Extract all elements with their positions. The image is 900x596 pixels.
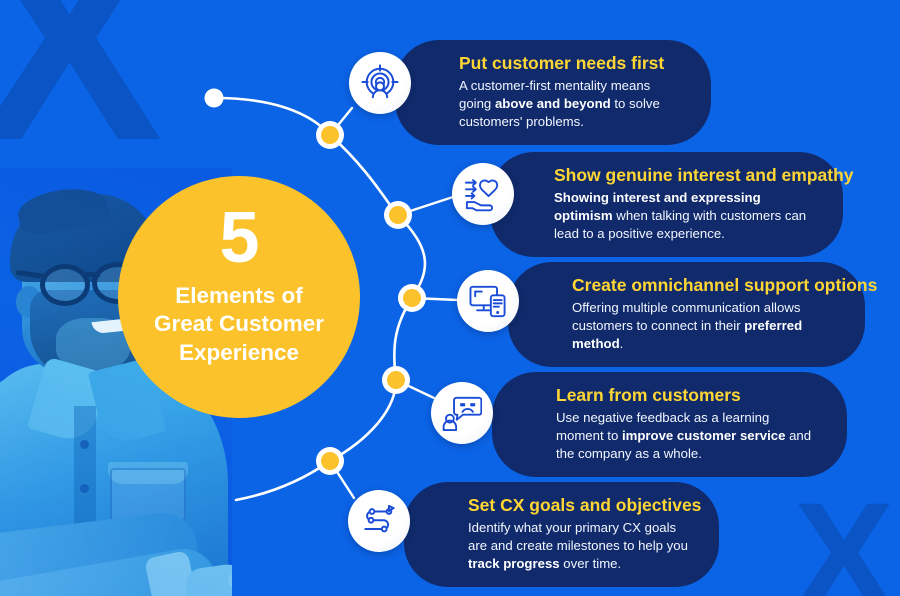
- element-count: 5: [118, 176, 360, 274]
- element-panel-4[interactable]: Learn from customers Use negative feedba…: [492, 372, 847, 477]
- element-body-4: Use negative feedback as a learning mome…: [556, 409, 817, 464]
- center-hero-circle: 5 Elements of Great Customer Experience: [118, 176, 360, 418]
- element-panel-3[interactable]: Create omnichannel support options Offer…: [508, 262, 865, 367]
- element-title-3: Create omnichannel support options: [572, 275, 835, 296]
- element-panel-5[interactable]: Set CX goals and objectives Identify wha…: [404, 482, 719, 587]
- target-customer-icon[interactable]: [349, 52, 411, 114]
- element-title-4: Learn from customers: [556, 385, 817, 406]
- element-body-5: Identify what your primary CX goals are …: [468, 519, 689, 574]
- element-body-2: Showing interest and expressing optimism…: [554, 189, 813, 244]
- element-body-1: A customer-first mentality means going a…: [459, 77, 681, 132]
- element-panel-1[interactable]: Put customer needs first A customer-firs…: [395, 40, 711, 145]
- element-title-1: Put customer needs first: [459, 53, 681, 74]
- element-panel-2[interactable]: Show genuine interest and empathy Showin…: [490, 152, 843, 257]
- element-body-3: Offering multiple communication allows c…: [572, 299, 835, 354]
- sad-feedback-bubble-icon[interactable]: [431, 382, 493, 444]
- infographic-canvas: X X: [0, 0, 900, 596]
- monitor-and-phone-icon[interactable]: [457, 270, 519, 332]
- element-title-2: Show genuine interest and empathy: [554, 165, 813, 186]
- milestone-path-icon[interactable]: [348, 490, 410, 552]
- hand-holding-heart-icon[interactable]: [452, 163, 514, 225]
- page-title: Elements of Great Customer Experience: [118, 274, 360, 367]
- element-title-5: Set CX goals and objectives: [468, 495, 689, 516]
